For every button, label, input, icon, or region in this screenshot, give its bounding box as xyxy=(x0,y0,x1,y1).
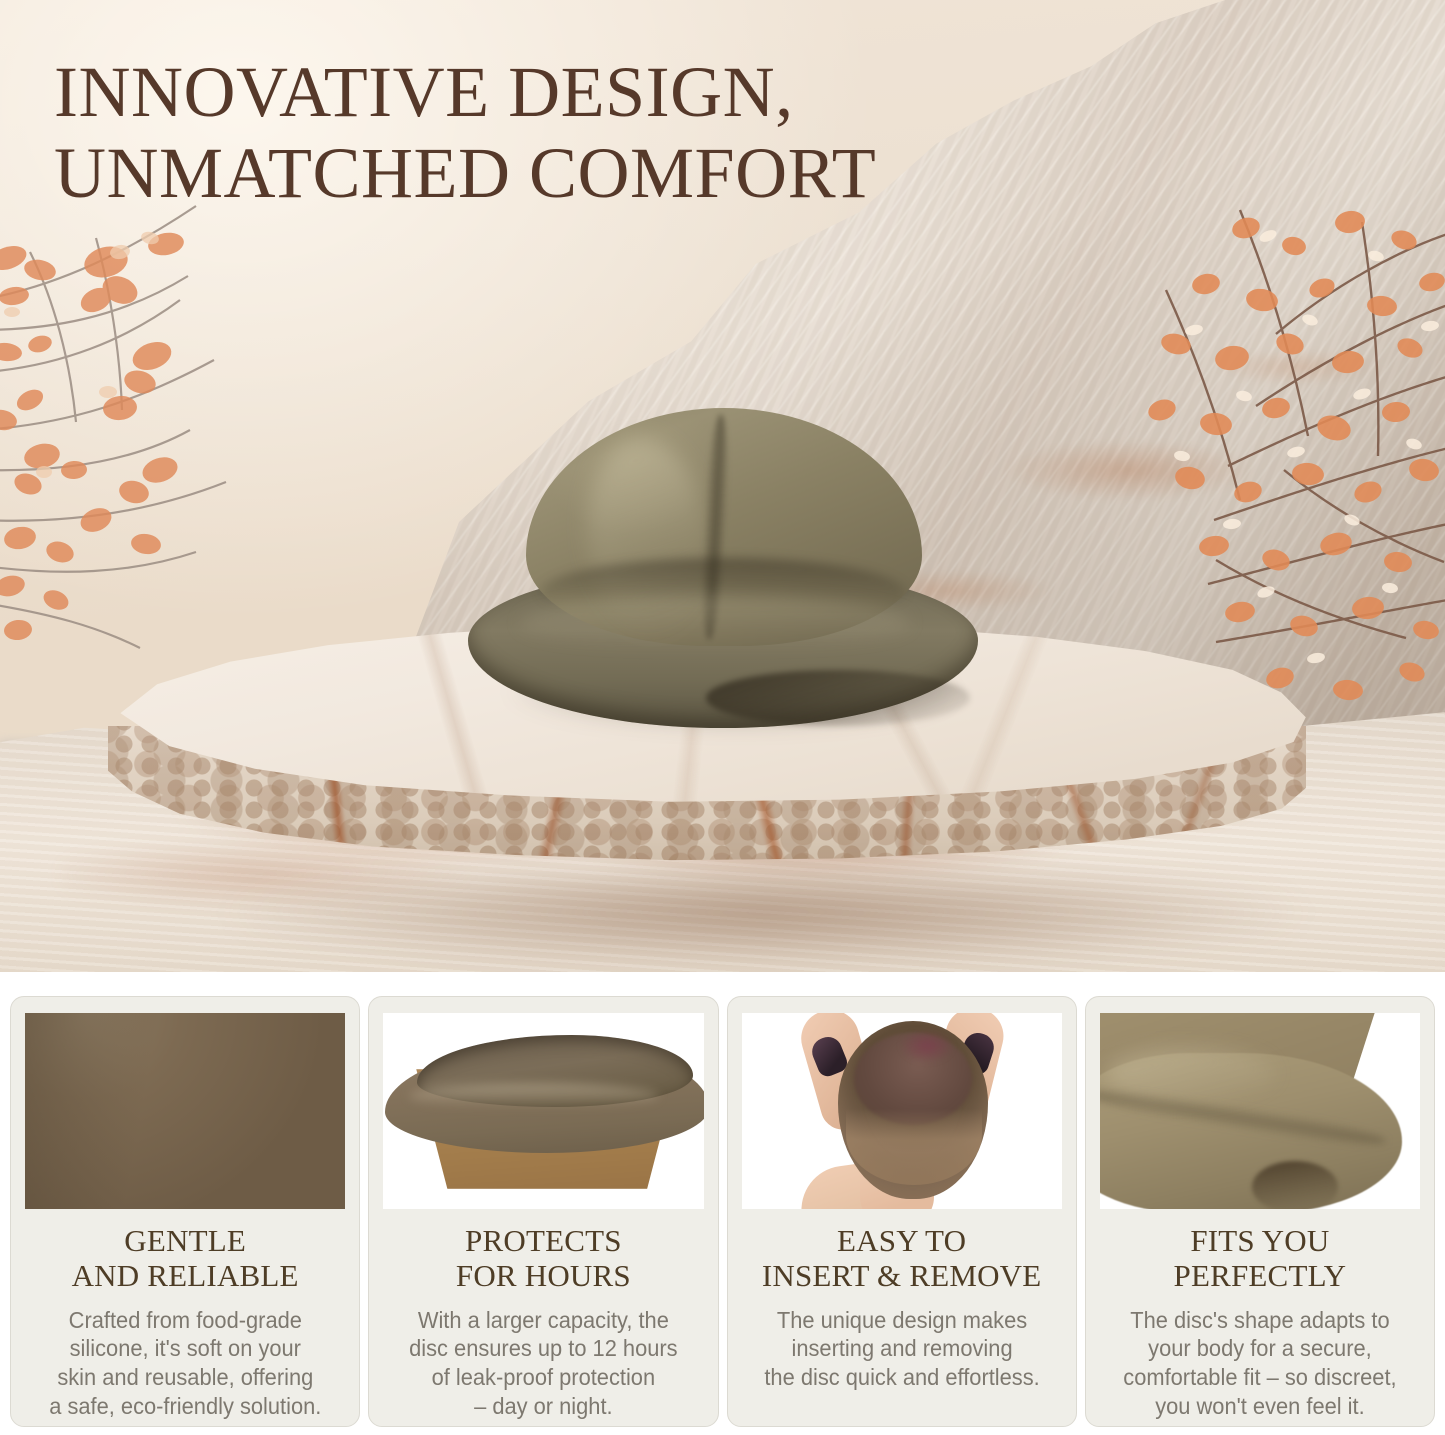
feature-image-disc-rim-side-view xyxy=(383,1013,703,1209)
product-menstrual-disc xyxy=(468,408,978,738)
feature-description: The unique design makes inserting and re… xyxy=(764,1306,1039,1392)
feature-image-hand-holding-disc xyxy=(742,1013,1062,1209)
left-branch-stems xyxy=(0,206,226,648)
feature-card-fits-you-perfectly: FITS YOU PERFECTLY The disc's shape adap… xyxy=(1085,996,1435,1427)
hero-section: INNOVATIVE DESIGN, UNMATCHED COMFORT xyxy=(0,0,1445,972)
product-marketing-image: INNOVATIVE DESIGN, UNMATCHED COMFORT GEN… xyxy=(0,0,1445,1435)
silicone-edge-shading xyxy=(25,1013,345,1209)
podium-ground-shadow xyxy=(226,874,1306,970)
feature-card-easy-to-insert-and-remove: EASY TO INSERT & REMOVE The unique desig… xyxy=(727,996,1077,1427)
page-title: INNOVATIVE DESIGN, UNMATCHED COMFORT xyxy=(54,52,1104,213)
feature-title: FITS YOU PERFECTLY xyxy=(1174,1223,1347,1294)
feature-description: The disc's shape adapts to your body for… xyxy=(1123,1306,1396,1421)
disc-side-scene xyxy=(383,1013,703,1209)
rim-underside-shadow xyxy=(1252,1161,1338,1209)
product-rim-shading xyxy=(706,670,970,726)
left-blossoms xyxy=(0,230,186,641)
held-disc-tint xyxy=(900,1029,954,1063)
feature-description: Crafted from food-grade silicone, it's s… xyxy=(49,1306,321,1421)
rim-macro-scene xyxy=(1100,1013,1420,1209)
feature-image-macro-silicone-surface xyxy=(25,1013,345,1209)
feature-description: With a larger capacity, the disc ensures… xyxy=(409,1306,677,1421)
left-blossom-highlights xyxy=(4,230,160,478)
feature-cards: GENTLE AND RELIABLE Crafted from food-gr… xyxy=(0,978,1445,1435)
feature-title: PROTECTS FOR HOURS xyxy=(456,1223,631,1294)
feature-title: EASY TO INSERT & REMOVE xyxy=(762,1223,1042,1294)
feature-card-gentle-and-reliable: GENTLE AND RELIABLE Crafted from food-gr… xyxy=(10,996,360,1427)
disc-rim-highlight xyxy=(409,1083,659,1109)
feature-image-macro-disc-rim-edge xyxy=(1100,1013,1420,1209)
hand-scene xyxy=(742,1013,1062,1209)
feature-card-protects-for-hours: PROTECTS FOR HOURS With a larger capacit… xyxy=(368,996,718,1427)
feature-title: GENTLE AND RELIABLE xyxy=(72,1223,299,1294)
product-rim-highlight xyxy=(520,596,910,650)
rim-highlight xyxy=(1106,1047,1276,1101)
